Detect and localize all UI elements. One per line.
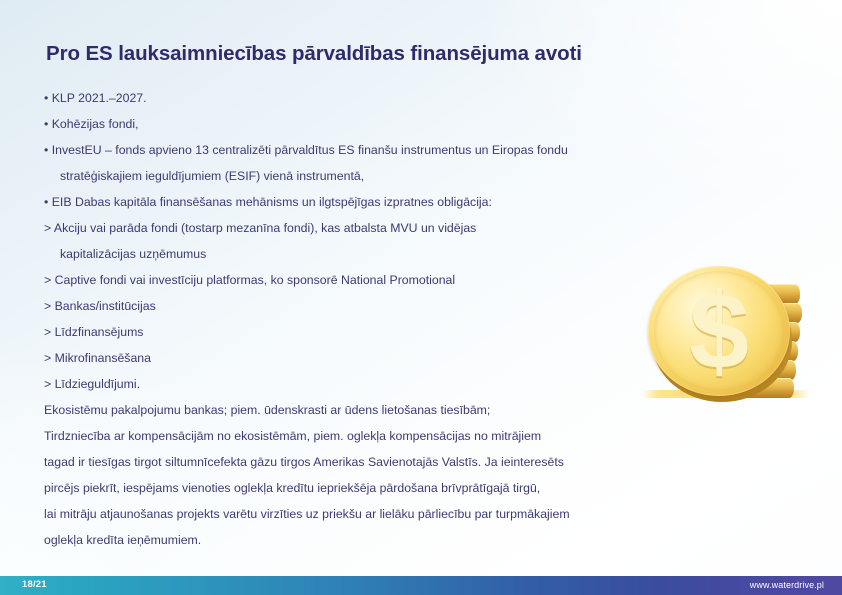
content-list: • KLP 2021.–2027.• Kohēzijas fondi,• Inv…	[44, 92, 664, 560]
dollar-sign-icon: $	[654, 271, 784, 391]
content-line: • EIB Dabas kapitāla finansēšanas mehāni…	[44, 196, 664, 222]
content-line: stratēģiskajiem ieguldījumiem (ESIF) vie…	[44, 170, 664, 196]
content-line: • Kohēzijas fondi,	[44, 118, 664, 144]
slide-page-number: 18/21	[22, 579, 47, 590]
content-line: Ekosistēmu pakalpojumu bankas; piem. ūde…	[44, 404, 664, 430]
content-line: > Līdzieguldījumi.	[44, 378, 664, 404]
content-line: kapitalizācijas uzņēmumus	[44, 248, 664, 274]
content-line: > Akciju vai parāda fondi (tostarp mezan…	[44, 222, 664, 248]
footer-website-url: www.waterdrive.pl	[750, 580, 824, 590]
content-line: • InvestEU – fonds apvieno 13 centralizē…	[44, 144, 664, 170]
content-line: > Mikrofinansēšana	[44, 352, 664, 378]
content-line: Tirdzniecība ar kompensācijām no ekosist…	[44, 430, 664, 456]
content-line: > Bankas/institūcijas	[44, 300, 664, 326]
content-line: lai mitrāju atjaunošanas projekts varētu…	[44, 508, 664, 534]
content-line: > Captive fondi vai investīciju platform…	[44, 274, 664, 300]
content-line: oglekļa kredīta ieņēmumiem.	[44, 534, 664, 560]
content-line: > Līdzfinansējums	[44, 326, 664, 352]
footer-bar: 18/21 www.waterdrive.pl	[0, 576, 842, 595]
gold-coin-stack-illustration: $	[638, 262, 818, 422]
page-title: Pro ES lauksaimniecības pārvaldības fina…	[46, 42, 582, 66]
front-coin: $	[648, 266, 790, 396]
content-line: tagad ir tiesīgas tirgot siltumnīcefekta…	[44, 456, 664, 482]
content-line: • KLP 2021.–2027.	[44, 92, 664, 118]
coin-inner-face: $	[654, 271, 784, 391]
content-line: pircējs piekrīt, iespējams vienoties ogl…	[44, 482, 664, 508]
slide-canvas: Pro ES lauksaimniecības pārvaldības fina…	[0, 0, 842, 595]
